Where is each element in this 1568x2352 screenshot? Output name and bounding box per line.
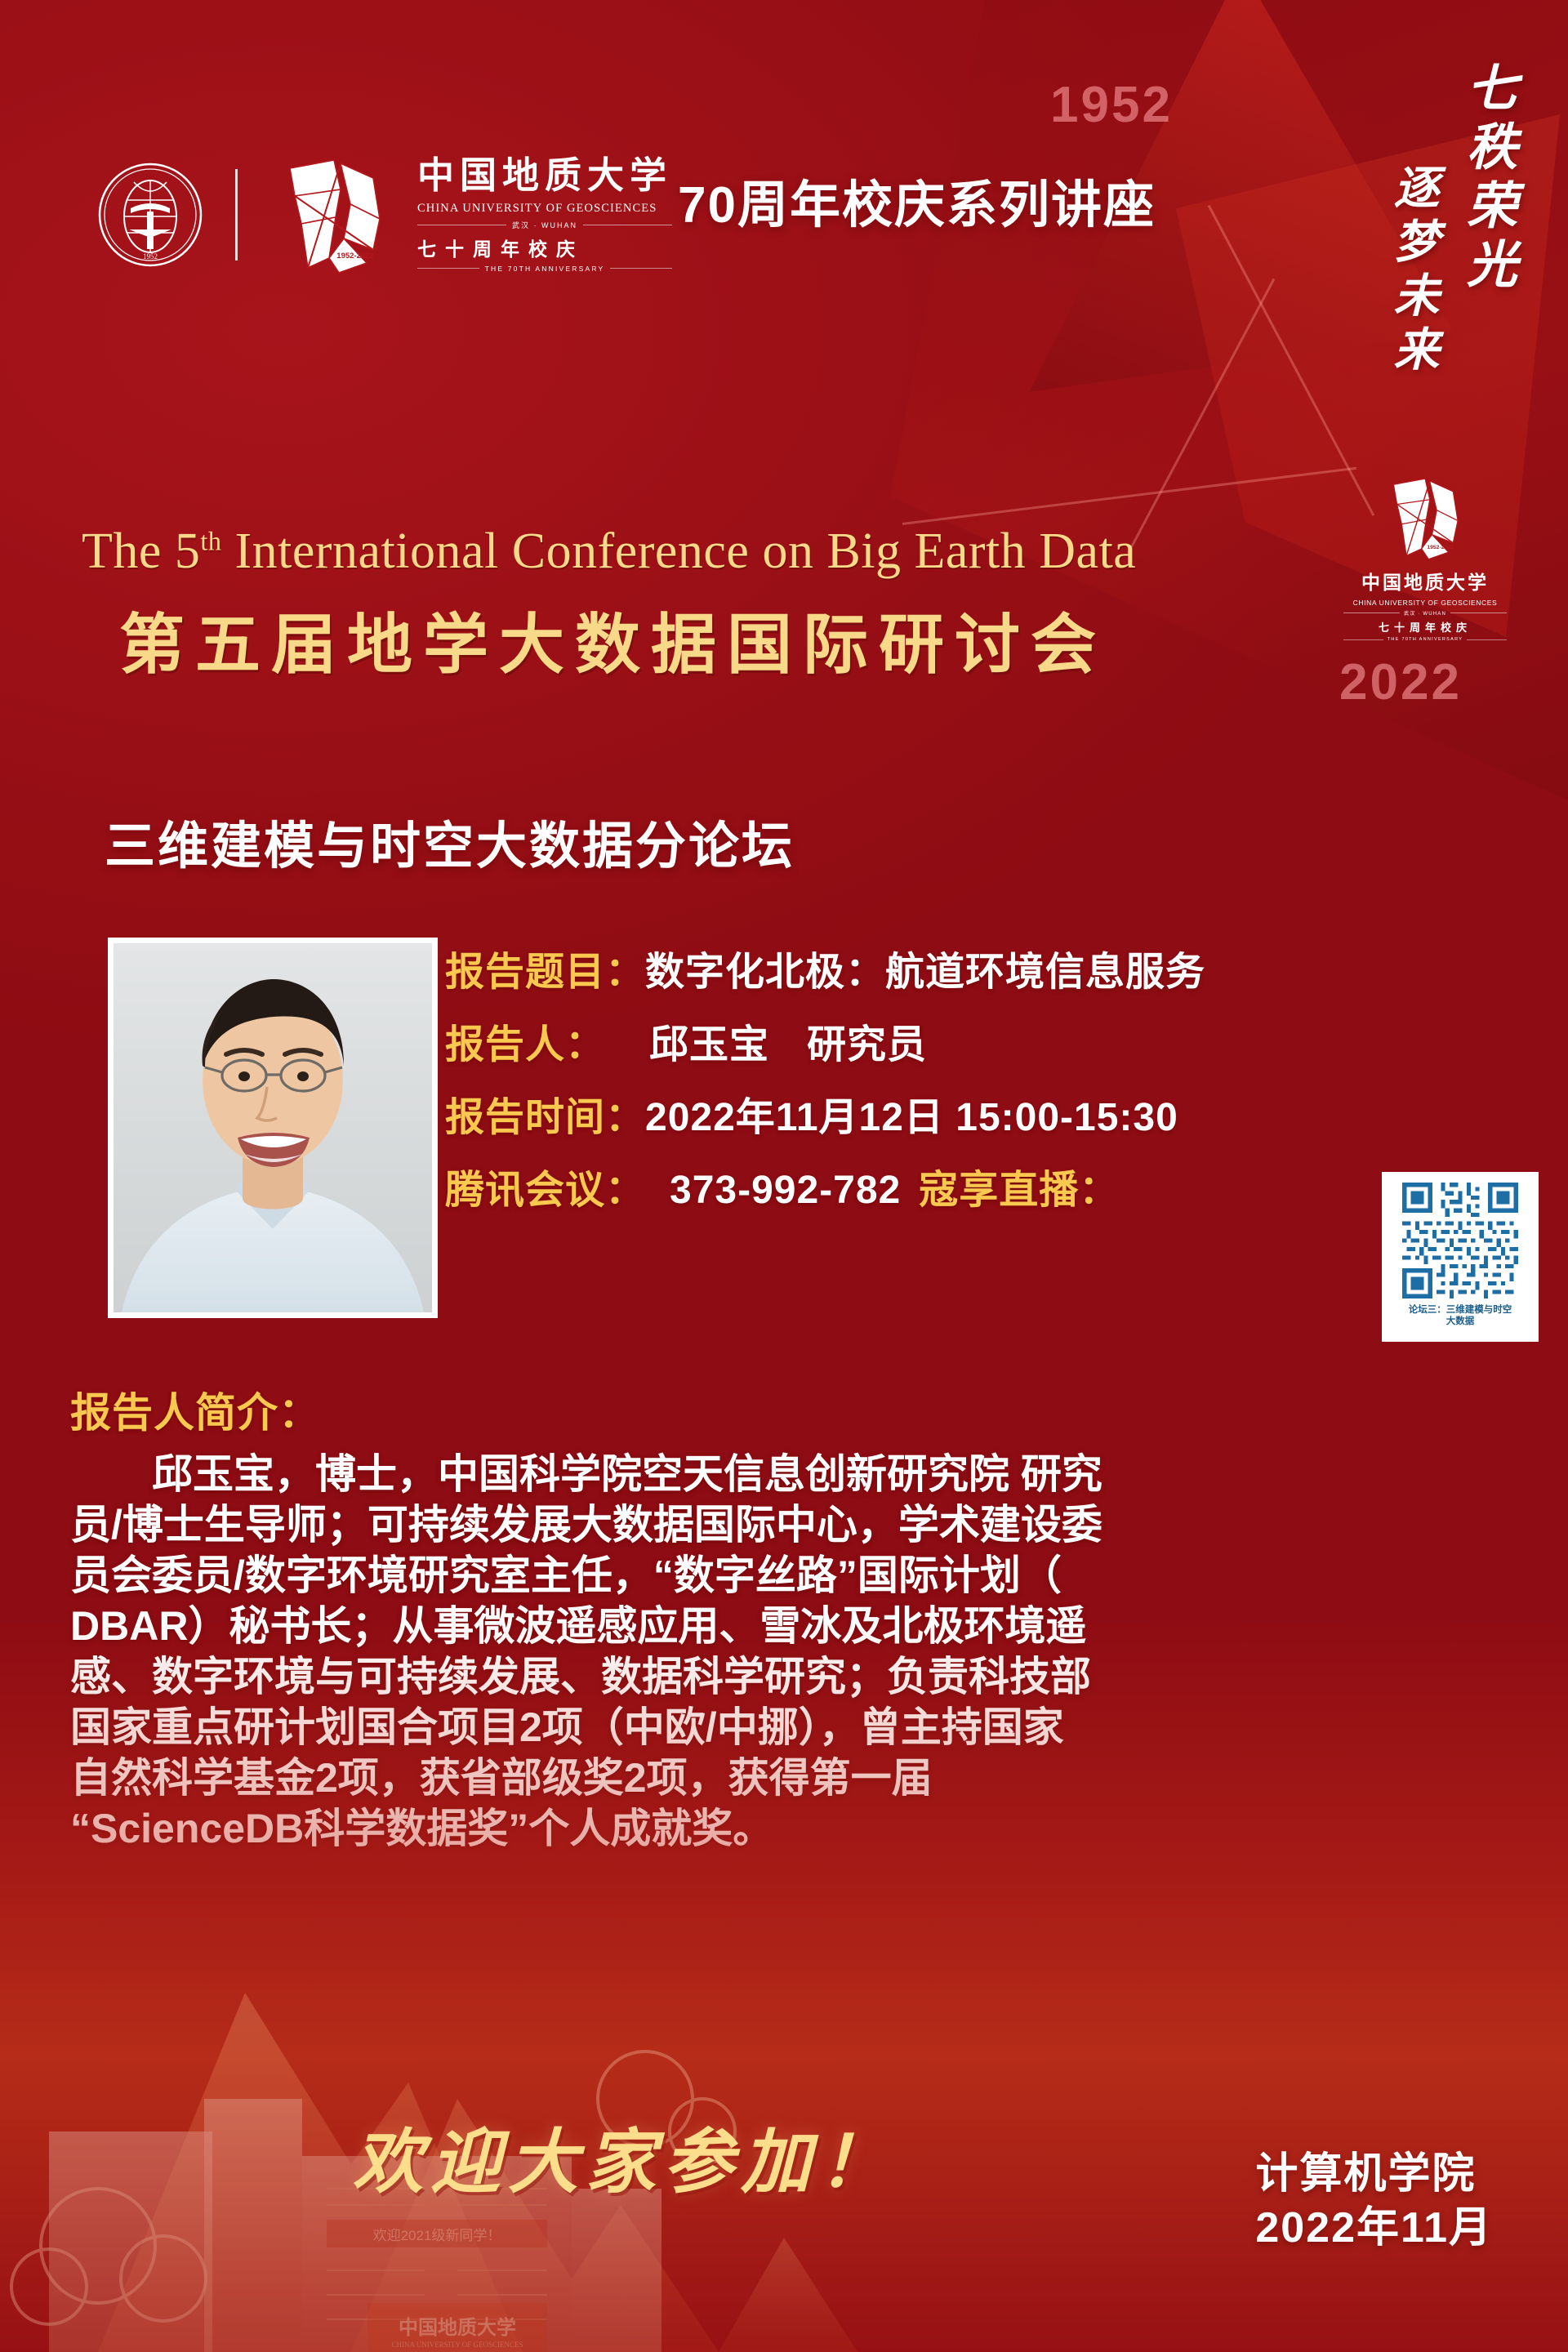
svg-text:1952-2022: 1952-2022 [1427,545,1454,550]
university-name-en: CHINA UNIVERSITY OF GEOSCIENCES [417,202,672,216]
welcome-message: 欢迎大家参加！ [353,2105,896,2207]
conference-title-cn: 第五届地学大数据国际研讨会 [119,592,1356,687]
organizer-name: 计算机学院 [1255,2147,1493,2202]
logo-divider [235,169,238,261]
speaker-row: 报告人： 邱玉宝 研究员 [445,1012,1499,1069]
forum-title: 三维建模与时空大数据分论坛 [105,804,795,878]
university-wordmark: 中国地质大学 CHINA UNIVERSITY OF GEOSCIENCES 武… [417,158,672,273]
campus-sign-en: CHINA UNIVERSITY OF GEOSCIENCES [392,2341,523,2349]
emblem-anniversary-cn: 七十周年校庆 [1343,619,1507,635]
talk-time-value: 2022年11月12日 15:00-15:30 [645,1085,1178,1142]
emblem-city: 武汉 · WUHAN [1404,609,1446,617]
anniversary-70-mark-icon: 1952-2022 [265,154,403,276]
speaker-portrait [108,938,438,1318]
qr-caption: 论坛三：三维建模与时空 大数据 [1388,1304,1532,1328]
lecture-series-title: 70周年校庆系列讲座 [678,163,1156,237]
poster-header: 1952 1952-2022 [0,0,1568,490]
mark-years-text: 1952-2022 [336,252,373,261]
talk-title-row: 报告题目： 数字化北极：航道环境信息服务 [445,939,1499,996]
svg-text:1952: 1952 [143,252,158,261]
anniversary-cn: 七十周年校庆 [417,234,672,261]
emblem-city-wrap: 武汉 · WUHAN [1343,609,1507,617]
emblem-name-cn: 中国地质大学 [1343,567,1507,595]
talk-title-value: 数字化北极：航道环境信息服务 [645,939,1205,996]
speaker-name: 邱玉宝 [649,1012,769,1069]
calligraphy-right: 七秩荣光 [1450,61,1523,296]
talk-info-block: 报告题目： 数字化北极：航道环境信息服务 报告人： 邱玉宝 研究员 报告时间： … [445,939,1499,1230]
meeting-id[interactable]: 373-992-782 [670,1168,901,1213]
university-city-text: 武汉 · WUHAN [512,220,577,230]
year-end-watermark: 2022 [1339,653,1462,711]
calligraphy-left: 逐梦未来 [1379,163,1445,379]
organizer-signature: 计算机学院 2022年11月 [1255,2147,1493,2256]
emblem-anniversary-en: THE 70TH ANNIVERSARY [1388,637,1463,642]
secondary-university-emblem: 1952-2022 中国地质大学 CHINA UNIVERSITY OF GEO… [1343,474,1507,642]
conference-title-en-post: International Conference on Big Earth Da… [221,523,1136,579]
livestream-label: 寇享直播： [919,1157,1119,1214]
qr-caption-line2: 大数据 [1388,1316,1532,1327]
university-seal-icon: 1952 [98,163,203,267]
campus-banner-text: 欢迎2021级新同学！ [373,2228,501,2243]
year-start-watermark: 1952 [1050,76,1173,134]
livestream-qr-card[interactable]: 论坛三：三维建模与时空 大数据 [1382,1172,1539,1342]
organizer-date: 2022年11月 [1255,2201,1493,2256]
bio-line: 邱玉宝，博士，中国科学院空天信息创新研究院 研究 [70,1449,1516,1499]
anniversary-en: THE 70TH ANNIVERSARY [485,265,605,273]
campus-sign-cn: 中国地质大学 [399,2316,516,2339]
meeting-row: 腾讯会议： 373-992-782 寇享直播： [445,1157,1499,1214]
speaker-role: 研究员 [807,1012,927,1069]
bio-line: 员会委员/数字环境研究室主任，“数字丝路”国际计划（ [70,1550,1516,1601]
conference-title-en-pre: The 5 [82,523,200,579]
emblem-anniversary-en-wrap: THE 70TH ANNIVERSARY [1343,637,1507,642]
university-name-cn: 中国地质大学 [417,158,672,194]
bio-label: 报告人简介： [70,1380,1516,1439]
speaker-label: 报告人： [445,1012,605,1069]
poster-root: 1952 1952-2022 [0,0,1568,2352]
talk-time-row: 报告时间： 2022年11月12日 15:00-15:30 [445,1085,1499,1142]
emblem-name-en: CHINA UNIVERSITY OF GEOSCIENCES [1343,599,1507,607]
qr-caption-line1: 论坛三：三维建模与时空 [1388,1304,1532,1316]
conference-title-ordinal: th [200,526,221,555]
university-logo-lockup: 1952 1952-2022 [98,154,672,276]
university-city: 武汉 · WUHAN [417,220,672,230]
conference-title-en: The 5th International Conference on Big … [82,523,1356,581]
bio-line: 员/博士生导师；可持续发展大数据国际中心，学术建设委 [70,1499,1516,1550]
talk-time-label: 报告时间： [445,1085,645,1142]
talk-title-label: 报告题目： [445,939,645,996]
conference-title-block: The 5th International Conference on Big … [82,523,1356,687]
qr-code-icon [1388,1178,1532,1303]
meeting-label: 腾讯会议： [445,1157,645,1214]
anniversary-70-mark-small-icon: 1952-2022 [1376,474,1474,562]
anniversary-en-wrap: THE 70TH ANNIVERSARY [417,265,672,273]
